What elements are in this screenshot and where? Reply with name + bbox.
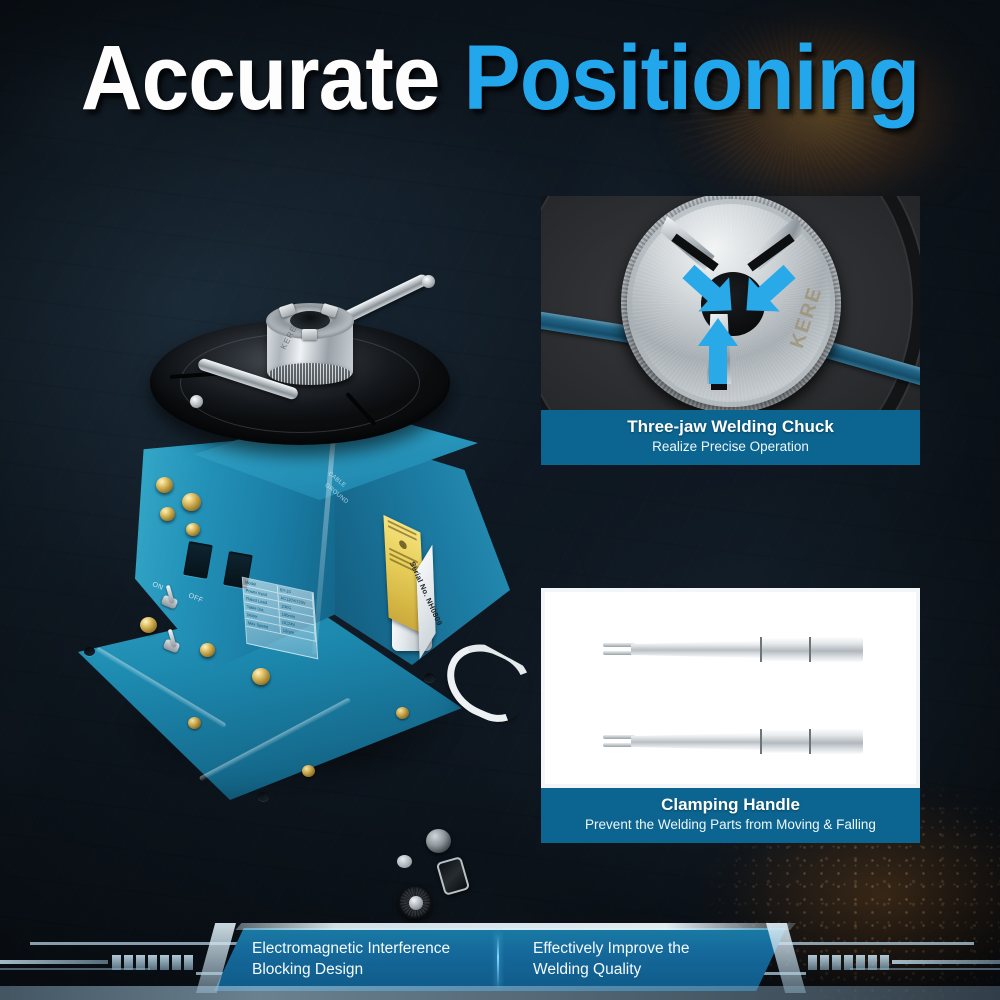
handle-tip-prong [603,743,635,747]
banner-left-line-2: Blocking Design [252,960,491,980]
brass-fitting [186,523,200,536]
banner-left-line-1: Electromagnetic Interference [252,939,491,959]
connector-small[interactable] [397,855,412,868]
handle-groove-ring [760,637,762,662]
page-title: AccuratePositioning [35,32,965,124]
handle-groove-ring [760,729,762,754]
handle-caption-bar: Clamping Handle Prevent the Welding Part… [541,788,920,843]
handle-end-section [811,637,863,662]
arrow-icon-bottom [695,312,741,388]
banner-text-container: Electromagnetic Interference Blocking De… [214,928,786,991]
banner-bottom-strip [0,986,1000,1000]
base-bolt [188,717,201,729]
feature-card-three-jaw-chuck: KERE Three-jaw Welding Chuck Realize Pre… [541,196,920,465]
chuck-caption-title: Three-jaw Welding Chuck [545,416,916,437]
banner-column-right: Effectively Improve the Welding Quality [505,939,786,980]
base-bolt [302,765,315,777]
brass-fitting [182,493,201,511]
clamping-handle-image [541,588,920,788]
banner-column-left: Electromagnetic Interference Blocking De… [214,939,505,980]
handle-tip-prong [603,643,635,647]
speed-knob-cap[interactable] [409,896,423,910]
feature-card-clamping-handle: Clamping Handle Prevent the Welding Part… [541,588,920,843]
base-mount-hole [258,792,269,801]
page-title-word-accurate: Accurate [81,27,440,129]
clamping-handle-upper [603,636,883,662]
banner-right-line-1: Effectively Improve the [533,939,772,959]
handle-groove-ring [809,637,811,662]
handle-caption-title: Clamping Handle [545,794,916,815]
brass-terminal [252,668,270,685]
handle-mid-section [761,638,813,661]
chuck-handle-cap [422,275,435,288]
brass-terminal [200,643,215,657]
connector-round[interactable] [426,829,451,853]
bottom-feature-banner: Electromagnetic Interference Blocking De… [0,922,1000,1000]
brass-fitting [156,477,173,493]
product-photo-welding-positioner: KERE Serial No. NH0809 ON OFF [40,255,540,855]
base-mount-hole [424,673,435,682]
base-mount-hole [84,647,95,656]
clamping-handle-lower [603,728,883,754]
poster-canvas: AccuratePositioning [0,0,1000,1000]
arrow-icon-right [731,260,805,322]
page-title-word-positioning: Positioning [464,27,920,129]
chuck-caption-subtitle: Realize Precise Operation [545,438,916,456]
handle-end-section [811,729,863,754]
chuck-knurled-collar [269,363,351,385]
handle-caption-subtitle: Prevent the Welding Parts from Moving & … [545,816,916,834]
handle-tip-prong [603,651,635,655]
banner-right-line-2: Welding Quality [533,960,772,980]
brass-fitting [160,507,175,521]
handle-tip-prong [603,735,635,739]
chuck-handle-cap [190,395,203,408]
chuck-caption-bar: Three-jaw Welding Chuck Realize Precise … [541,410,920,465]
handle-groove-ring [809,729,811,754]
handle-tapered-shaft [631,641,763,658]
base-bolt [396,707,409,719]
handle-mid-section [761,730,813,753]
chuck-macro-image: KERE [541,196,920,410]
handle-tapered-shaft [631,733,763,750]
chuck-jaw [302,329,317,340]
brass-terminal [140,617,157,633]
